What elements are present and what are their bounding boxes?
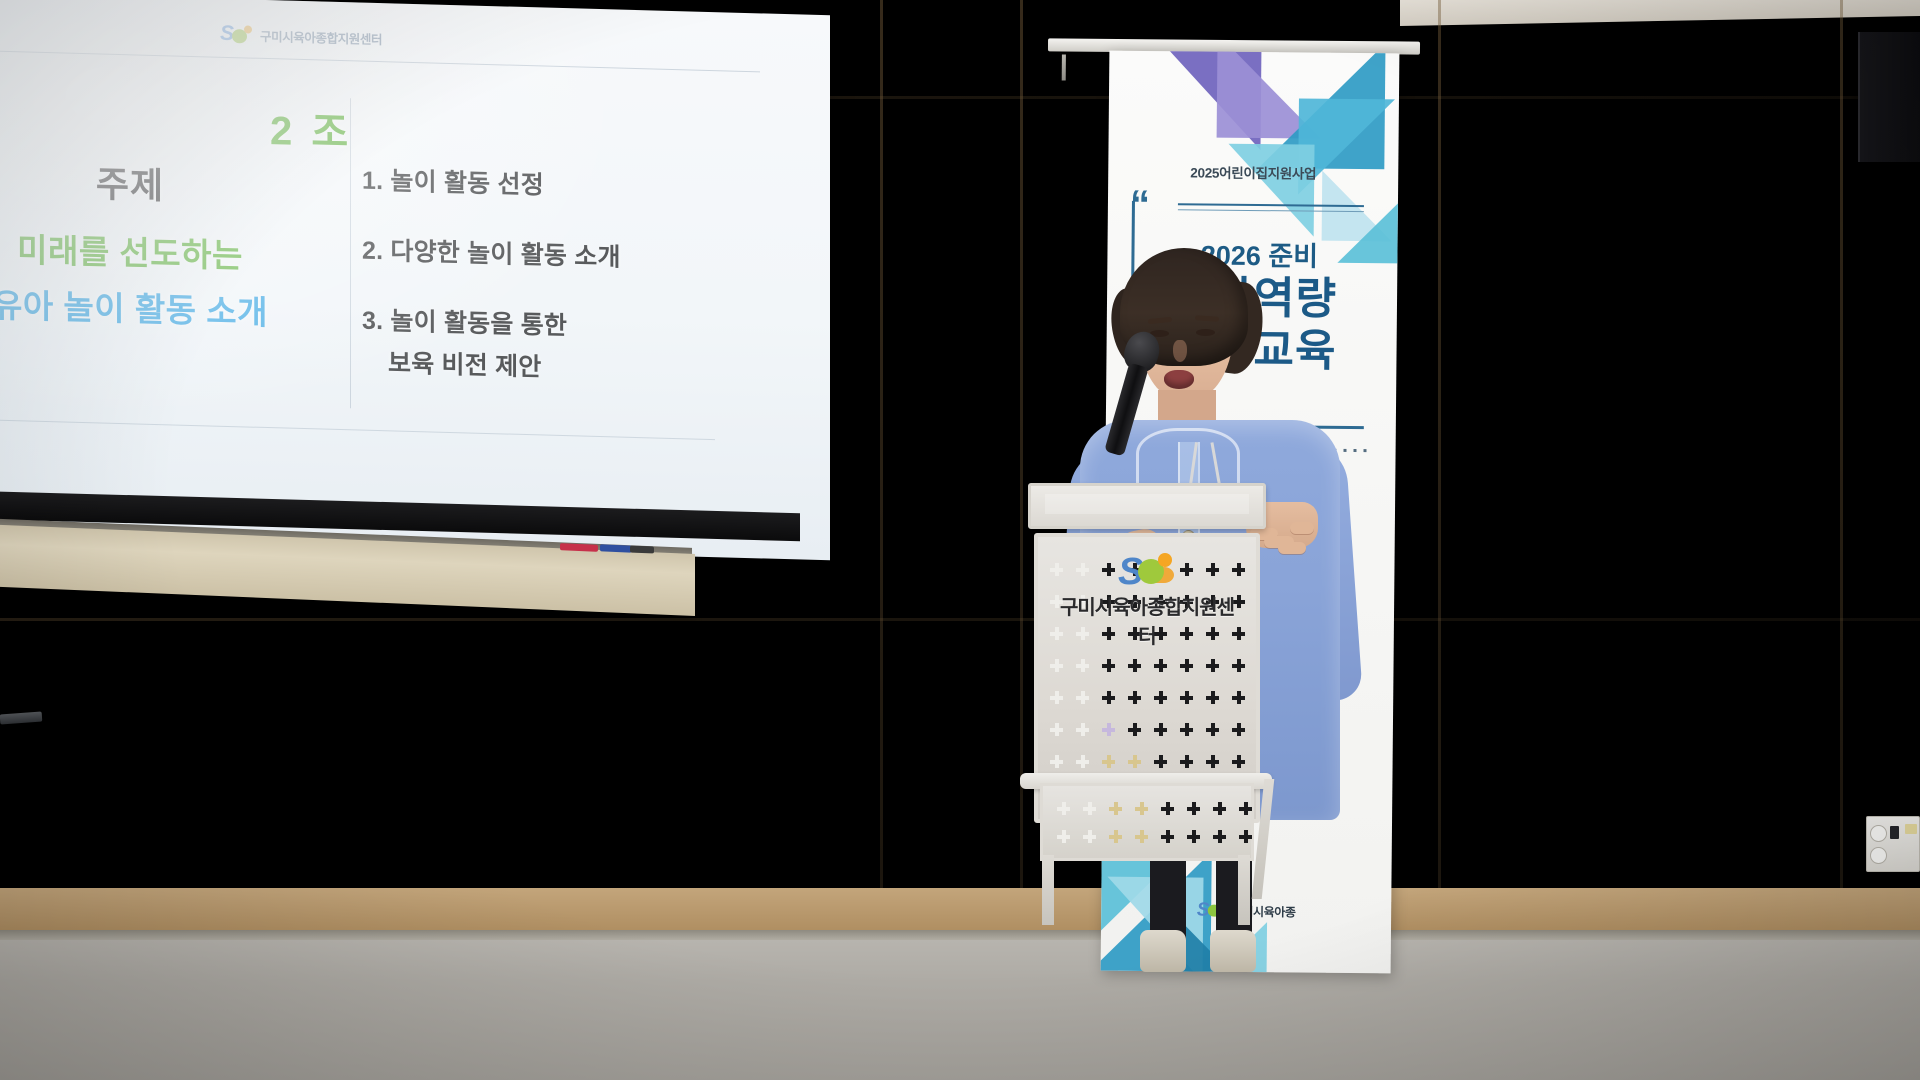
outlet-switch[interactable]: [1890, 826, 1899, 839]
cross-ornament: [1239, 802, 1252, 815]
cross-ornament: [1050, 723, 1063, 736]
podium-logo: S 구미시육아종합지원센터: [1052, 555, 1242, 649]
podium-lower-panel: [1040, 783, 1254, 861]
conference-room-photo: S 구미시육아종합지원센터 2 조 주제 미래를 선도하는 유아 놀이 활동 소…: [0, 0, 1920, 1080]
rail-hook: [1062, 54, 1066, 80]
slide-agenda-list: 1. 놀이 활동 선정 2. 다양한 놀이 활동 소개 3. 놀이 활동을 통한…: [362, 161, 742, 423]
floor-wood-strip: [0, 888, 1920, 930]
cross-ornament: [1180, 723, 1193, 736]
shoe: [1210, 930, 1256, 972]
cross-ornament: [1076, 691, 1089, 704]
podium-lower-cross-pattern: [1043, 786, 1251, 858]
cross-ornament: [1232, 723, 1245, 736]
slide-topic-line1: 미래를 선도하는: [0, 221, 330, 280]
cross-ornament: [1213, 830, 1226, 843]
cross-ornament: [1102, 691, 1115, 704]
cross-ornament: [1128, 723, 1141, 736]
marker-blue[interactable]: [600, 544, 632, 552]
cross-ornament: [1187, 830, 1200, 843]
agenda-text: 놀이 활동을 통한: [390, 307, 567, 340]
cross-ornament: [1102, 723, 1115, 736]
projection-screen: S 구미시육아종합지원센터 2 조 주제 미래를 선도하는 유아 놀이 활동 소…: [0, 0, 830, 537]
outlet-label: [1905, 824, 1917, 834]
cross-ornament: [1180, 659, 1193, 672]
podium-logo-text: 구미시육아종합지원센터: [1052, 591, 1242, 649]
cross-ornament: [1213, 802, 1226, 815]
slide-topic-heading: 주제: [0, 151, 330, 214]
cross-ornament: [1154, 723, 1167, 736]
cross-ornament: [1161, 830, 1174, 843]
agenda-subtext: 보육 비전 제안: [362, 343, 742, 389]
cross-ornament: [1154, 691, 1167, 704]
cross-ornament: [1128, 659, 1141, 672]
nose: [1173, 340, 1187, 362]
podium-leg: [1238, 855, 1250, 925]
cross-ornament: [1154, 755, 1167, 768]
cross-ornament: [1050, 659, 1063, 672]
cross-ornament: [1232, 659, 1245, 672]
cross-ornament: [1180, 755, 1193, 768]
cross-ornament: [1206, 755, 1219, 768]
eye: [1196, 329, 1215, 336]
list-item: 2. 다양한 놀이 활동 소개: [362, 231, 742, 277]
slide-group-label: 2 조: [270, 98, 352, 158]
outlet-socket: [1870, 847, 1887, 864]
marker-black[interactable]: [630, 545, 654, 553]
list-item: 3. 놀이 활동을 통한 보육 비전 제안: [362, 301, 742, 389]
cross-ornament: [1109, 802, 1122, 815]
list-item: 1. 놀이 활동 선정: [362, 161, 742, 207]
cross-ornament: [1057, 802, 1070, 815]
cross-ornament: [1057, 830, 1070, 843]
agenda-text: 다양한 놀이 활동 소개: [390, 237, 620, 271]
cross-ornament: [1206, 659, 1219, 672]
slide-logo-text: 구미시육아종합지원센터: [260, 25, 382, 47]
cross-ornament: [1154, 659, 1167, 672]
sc-logo-icon: S: [1118, 555, 1176, 589]
cross-ornament: [1180, 691, 1193, 704]
cross-ornament: [1206, 723, 1219, 736]
cross-ornament: [1135, 830, 1148, 843]
cross-ornament: [1239, 830, 1252, 843]
slide-content: S 구미시육아종합지원센터 2 조 주제 미래를 선도하는 유아 놀이 활동 소…: [0, 0, 770, 514]
cross-ornament: [1102, 659, 1115, 672]
cross-ornament: [1109, 830, 1122, 843]
cross-ornament: [1206, 691, 1219, 704]
cross-ornament: [1161, 802, 1174, 815]
cross-ornament: [1128, 755, 1141, 768]
floor-edge: [0, 930, 1920, 940]
cross-ornament: [1187, 802, 1200, 815]
slide-divider-bottom: [0, 418, 715, 440]
cross-ornament: [1232, 755, 1245, 768]
cross-ornament: [1083, 830, 1096, 843]
mouth: [1164, 370, 1194, 389]
cross-ornament: [1050, 691, 1063, 704]
power-outlet[interactable]: [1866, 816, 1920, 872]
sc-logo-icon: S: [220, 24, 254, 45]
podium-top-inner: [1045, 494, 1249, 514]
slide-topic-block: 주제 미래를 선도하는 유아 놀이 활동 소개: [0, 151, 330, 336]
slide-topic-line2: 유아 놀이 활동 소개: [0, 277, 330, 336]
cross-ornament: [1135, 802, 1148, 815]
cross-ornament: [1083, 802, 1096, 815]
agenda-text: 놀이 활동 선정: [390, 167, 544, 199]
cross-ornament: [1232, 691, 1245, 704]
cross-ornament: [1050, 755, 1063, 768]
slide-header-logo: S 구미시육아종합지원센터: [220, 24, 382, 48]
podium-leg: [1042, 855, 1054, 925]
wall-seam-horizontal: [0, 618, 1920, 621]
agenda-number: 3.: [362, 307, 383, 336]
podium-top-frame: [1028, 483, 1266, 529]
outlet-socket: [1870, 825, 1887, 842]
carpet-floor: [0, 940, 1920, 1080]
agenda-number: 2.: [362, 237, 383, 266]
shoe: [1140, 930, 1186, 972]
slide-divider-top: [0, 49, 760, 72]
banner-eyebrow: 2025어린이집지원사업: [1108, 161, 1398, 184]
lectern-podium: S 구미시육아종합지원센터: [1020, 483, 1272, 883]
agenda-number: 1.: [362, 167, 383, 196]
wall-speaker: [1858, 32, 1920, 162]
cross-ornament: [1102, 755, 1115, 768]
cross-ornament: [1076, 755, 1089, 768]
cross-ornament: [1128, 691, 1141, 704]
cross-ornament: [1076, 659, 1089, 672]
cross-ornament: [1076, 723, 1089, 736]
